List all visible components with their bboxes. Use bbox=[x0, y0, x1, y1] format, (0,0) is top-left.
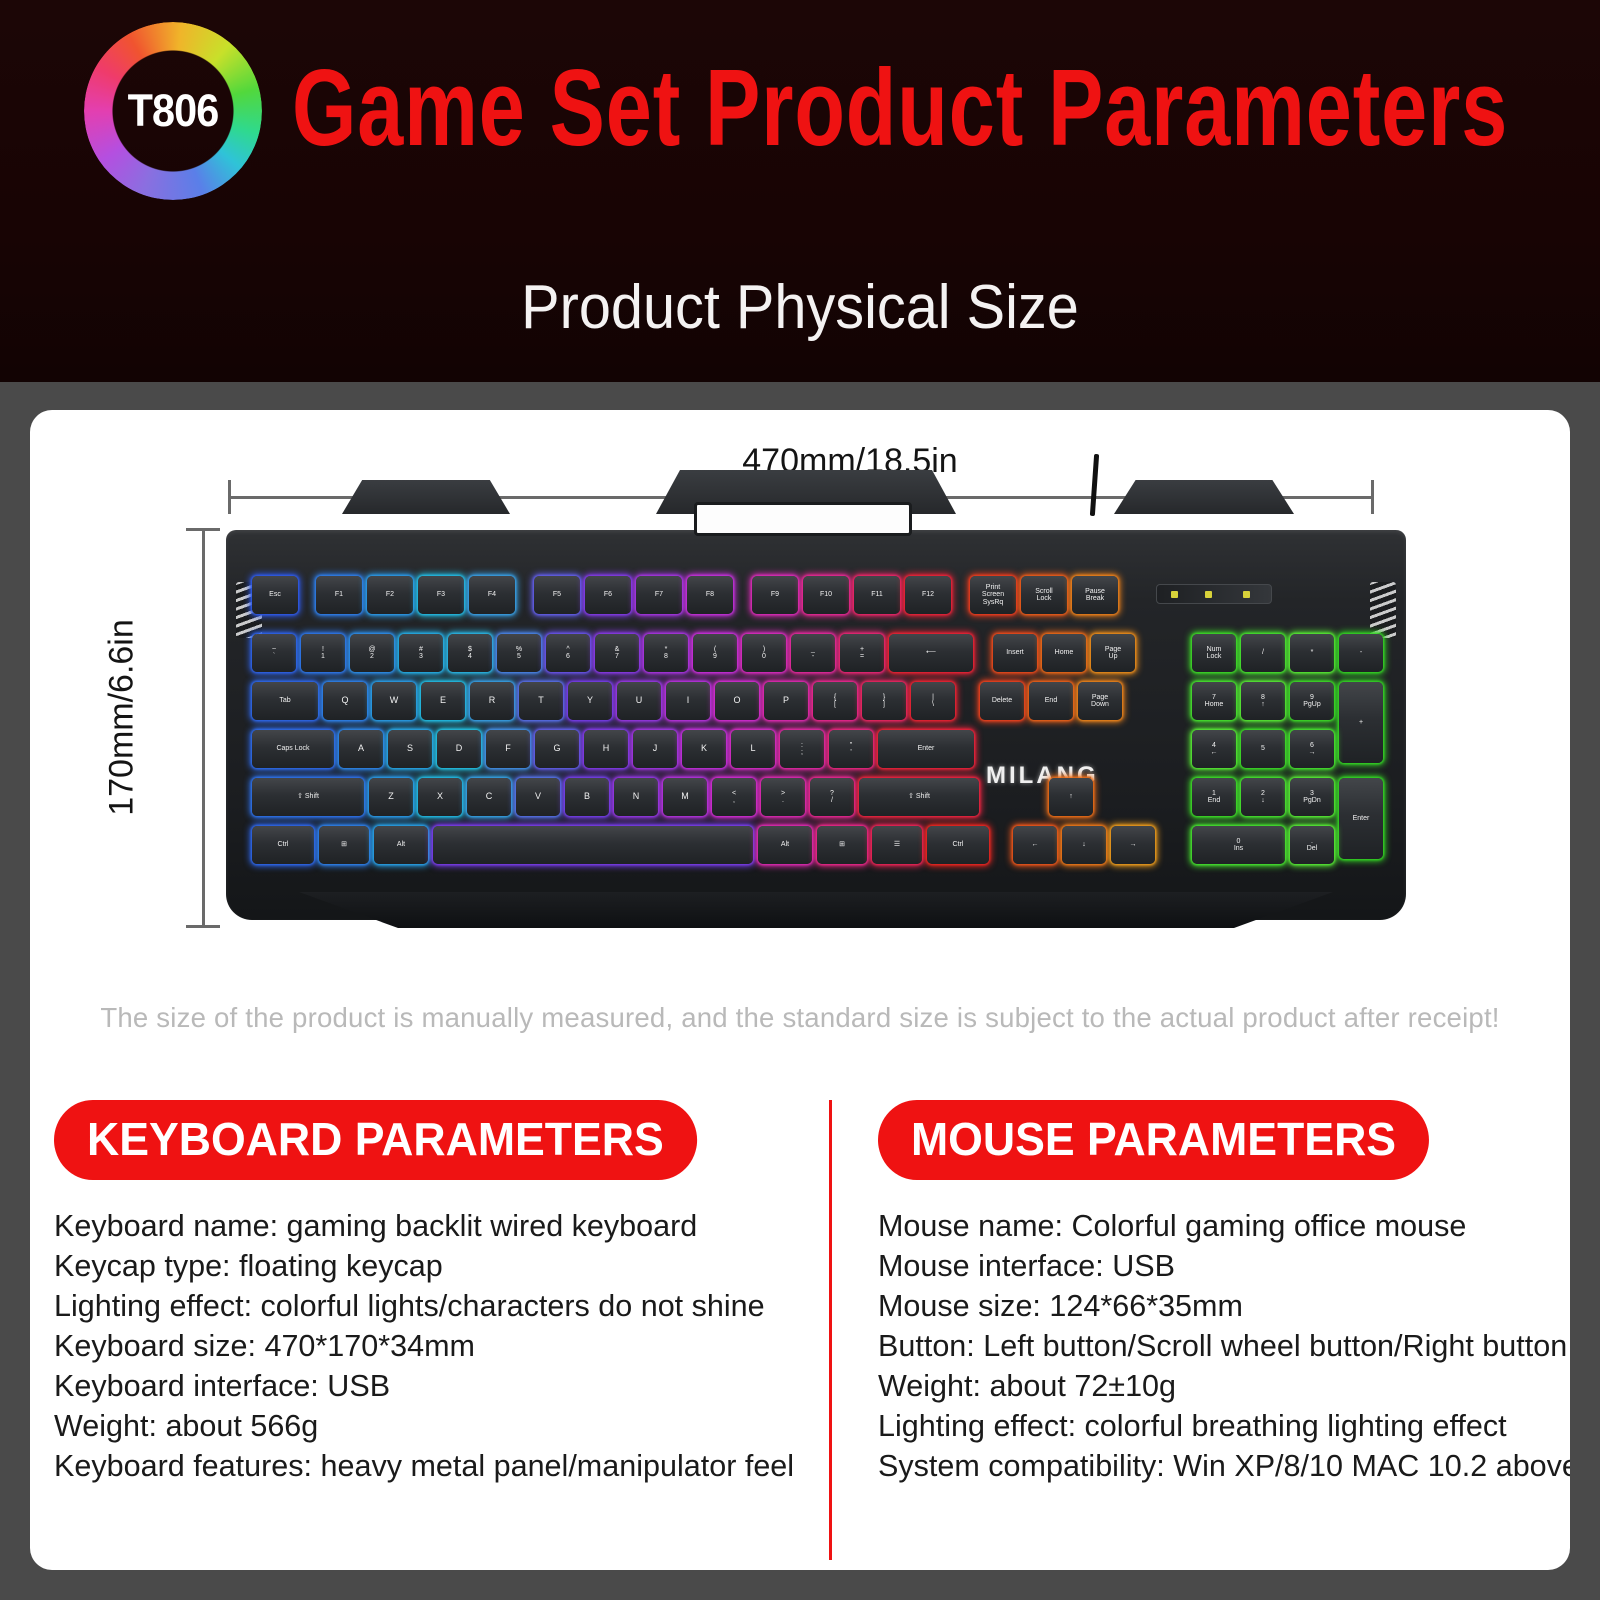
keycap: N bbox=[614, 778, 658, 816]
keycap: P bbox=[764, 682, 808, 720]
keycap: 9 PgUp bbox=[1290, 682, 1334, 720]
keycap: Tab bbox=[252, 682, 318, 720]
keycap: A bbox=[339, 730, 383, 768]
keycap: 0 Ins bbox=[1192, 826, 1285, 864]
keycap: Scroll Lock bbox=[1021, 576, 1067, 614]
keyboard-parameters-heading: KEYBOARD PARAMETERS bbox=[54, 1100, 697, 1180]
keyboard-foot bbox=[266, 892, 1366, 928]
height-dimension-cap-bottom bbox=[186, 925, 220, 928]
keycap: Esc bbox=[252, 576, 298, 614]
keycap: + = bbox=[840, 634, 884, 672]
keycap: F12 bbox=[905, 576, 951, 614]
keycap: F1 bbox=[316, 576, 362, 614]
chassis-bump-right bbox=[1114, 480, 1294, 514]
keycap: Enter bbox=[878, 730, 974, 768]
keycap: W bbox=[372, 682, 416, 720]
keycap: ! 1 bbox=[301, 634, 345, 672]
height-dimension-line bbox=[202, 528, 205, 928]
mouse-spec-line: Lighting effect: colorful breathing ligh… bbox=[878, 1406, 1570, 1446]
keycap: Delete bbox=[980, 682, 1024, 720]
keyboard-spec-line: Keyboard name: gaming backlit wired keyb… bbox=[54, 1206, 794, 1246]
keycap: Alt bbox=[758, 826, 812, 864]
keycap: Alt bbox=[374, 826, 428, 864]
keyboard-parameters-column: KEYBOARD PARAMETERS Keyboard name: gamin… bbox=[30, 1100, 829, 1560]
keycap: ( 9 bbox=[693, 634, 737, 672]
keycap: : ; bbox=[780, 730, 824, 768]
t806-logo: T806 bbox=[84, 22, 262, 200]
keycap bbox=[433, 826, 753, 864]
width-dimension-cap-right bbox=[1371, 480, 1374, 514]
keycap: @ 2 bbox=[350, 634, 394, 672]
keycap: S bbox=[388, 730, 432, 768]
keycap: F8 bbox=[687, 576, 733, 614]
keycap: > . bbox=[761, 778, 805, 816]
keycap: Print Screen SysRq bbox=[970, 576, 1016, 614]
keycap: Page Down bbox=[1078, 682, 1122, 720]
keycap: Page Up bbox=[1091, 634, 1135, 672]
mouse-spec-line: Mouse name: Colorful gaming office mouse bbox=[878, 1206, 1570, 1246]
keycap: ← bbox=[1013, 826, 1057, 864]
keycap: " ' bbox=[829, 730, 873, 768]
parameters-section: KEYBOARD PARAMETERS Keyboard name: gamin… bbox=[30, 1100, 1570, 1560]
keycap: E bbox=[421, 682, 465, 720]
keycap: H bbox=[584, 730, 628, 768]
keycap: F3 bbox=[418, 576, 464, 614]
keycap: 3 PgDn bbox=[1290, 778, 1334, 816]
keycap: Caps Lock bbox=[252, 730, 334, 768]
keyboard-spec-line: Keyboard size: 470*170*34mm bbox=[54, 1326, 794, 1366]
keycap: L bbox=[731, 730, 775, 768]
mouse-spec-line: Mouse interface: USB bbox=[878, 1246, 1570, 1286]
keycap-grid: EscF1F2F3F4F5F6F7F8F9F10F11F12Print Scre… bbox=[252, 576, 1380, 902]
keycap: 4 ← bbox=[1192, 730, 1236, 768]
keycap: T bbox=[519, 682, 563, 720]
keycap: F10 bbox=[803, 576, 849, 614]
keycap: Insert bbox=[993, 634, 1037, 672]
keycap: F4 bbox=[469, 576, 515, 614]
keyboard-spec-line: Keyboard features: heavy metal panel/man… bbox=[54, 1446, 794, 1486]
page-title: Game Set Product Parameters bbox=[292, 54, 1508, 163]
keycap: 5 bbox=[1241, 730, 1285, 768]
mouse-parameters-heading: MOUSE PARAMETERS bbox=[878, 1100, 1429, 1180]
keycap: G bbox=[535, 730, 579, 768]
keycap: _ - bbox=[791, 634, 835, 672]
content-frame: 470mm/18.5in 170mm/6.6in MILANG EscF1F2F… bbox=[0, 382, 1600, 1600]
keycap: Ctrl bbox=[252, 826, 314, 864]
keycap: 6 → bbox=[1290, 730, 1334, 768]
keycap: M bbox=[663, 778, 707, 816]
keycap: B bbox=[565, 778, 609, 816]
keycap: % 5 bbox=[497, 634, 541, 672]
keycap: } ] bbox=[862, 682, 906, 720]
keycap: ⇧ Shift bbox=[859, 778, 979, 816]
keycap: Num Lock bbox=[1192, 634, 1236, 672]
keycap: ? / bbox=[810, 778, 854, 816]
keycap: ^ 6 bbox=[546, 634, 590, 672]
keycap: Y bbox=[568, 682, 612, 720]
keycap: F5 bbox=[534, 576, 580, 614]
mouse-spec-line: Weight: about 72±10g bbox=[878, 1366, 1570, 1406]
keycap: ⊞ bbox=[817, 826, 867, 864]
phone-holder-slot bbox=[694, 502, 912, 536]
keycap: 2 ↓ bbox=[1241, 778, 1285, 816]
height-dimension-label: 170mm/6.6in bbox=[103, 568, 142, 868]
height-dimension-cap-top bbox=[186, 528, 220, 531]
keycap: Q bbox=[323, 682, 367, 720]
keyboard-spec-line: Keyboard interface: USB bbox=[54, 1366, 794, 1406]
keyboard-chassis: MILANG EscF1F2F3F4F5F6F7F8F9F10F11F12Pri… bbox=[226, 530, 1406, 920]
keycap: * 8 bbox=[644, 634, 688, 672]
keycap: I bbox=[666, 682, 710, 720]
keycap: ☰ bbox=[872, 826, 922, 864]
usb-cable bbox=[1090, 454, 1099, 516]
keycap: F7 bbox=[636, 576, 682, 614]
keycap: K bbox=[682, 730, 726, 768]
keycap: ↓ bbox=[1062, 826, 1106, 864]
keycap: 1 End bbox=[1192, 778, 1236, 816]
keycap: V bbox=[516, 778, 560, 816]
keycap: ~ ` bbox=[252, 634, 296, 672]
keycap: { [ bbox=[813, 682, 857, 720]
keycap: $ 4 bbox=[448, 634, 492, 672]
keycap: F6 bbox=[585, 576, 631, 614]
keycap: U bbox=[617, 682, 661, 720]
keycap: ) 0 bbox=[742, 634, 786, 672]
keyboard-spec-line: Weight: about 566g bbox=[54, 1406, 794, 1446]
mouse-spec-line: System compatibility: Win XP/8/10 MAC 10… bbox=[878, 1446, 1570, 1486]
keycap: R bbox=[470, 682, 514, 720]
keycap: 8 ↑ bbox=[1241, 682, 1285, 720]
keycap: < , bbox=[712, 778, 756, 816]
measurement-disclaimer: The size of the product is manually meas… bbox=[42, 1002, 1559, 1034]
keycap: * bbox=[1290, 634, 1334, 672]
keyboard-spec-line: Keycap type: floating keycap bbox=[54, 1246, 794, 1286]
keycap: C bbox=[467, 778, 511, 816]
keycap: Home bbox=[1042, 634, 1086, 672]
chassis-bump-left bbox=[342, 480, 510, 514]
keycap: F11 bbox=[854, 576, 900, 614]
logo-badge-label: T806 bbox=[91, 22, 255, 200]
white-card: 470mm/18.5in 170mm/6.6in MILANG EscF1F2F… bbox=[30, 410, 1570, 1570]
keyboard-spec-list: Keyboard name: gaming backlit wired keyb… bbox=[54, 1206, 805, 1486]
keycap: ↑ bbox=[1049, 778, 1093, 816]
keycap: Pause Break bbox=[1072, 576, 1118, 614]
keycap: F2 bbox=[367, 576, 413, 614]
keycap: . Del bbox=[1290, 826, 1334, 864]
keycap: ⟵ bbox=[889, 634, 973, 672]
keycap: End bbox=[1029, 682, 1073, 720]
mouse-spec-line: Button: Left button/Scroll wheel button/… bbox=[878, 1326, 1570, 1366]
keycap: ⊞ bbox=[319, 826, 369, 864]
keyboard-product-image: MILANG EscF1F2F3F4F5F6F7F8F9F10F11F12Pri… bbox=[226, 510, 1406, 930]
keycap: - bbox=[1339, 634, 1383, 672]
keycap: F9 bbox=[752, 576, 798, 614]
keycap: Enter bbox=[1339, 778, 1383, 859]
mouse-spec-line: Mouse size: 124*66*35mm bbox=[878, 1286, 1570, 1326]
keycap: Ctrl bbox=[927, 826, 989, 864]
keycap: + bbox=[1339, 682, 1383, 763]
keycap: → bbox=[1111, 826, 1155, 864]
keycap: Z bbox=[369, 778, 413, 816]
keycap: / bbox=[1241, 634, 1285, 672]
keycap: D bbox=[437, 730, 481, 768]
keycap: 7 Home bbox=[1192, 682, 1236, 720]
keycap: O bbox=[715, 682, 759, 720]
keycap: | \ bbox=[911, 682, 955, 720]
keyboard-spec-line: Lighting effect: colorful lights/charact… bbox=[54, 1286, 794, 1326]
width-dimension-cap-left bbox=[228, 480, 231, 514]
mouse-parameters-column: MOUSE PARAMETERS Mouse name: Colorful ga… bbox=[829, 1100, 1570, 1560]
page-header: T806 Game Set Product Parameters Product… bbox=[0, 0, 1600, 382]
keycap: & 7 bbox=[595, 634, 639, 672]
page-subtitle: Product Physical Size bbox=[56, 272, 1544, 343]
keycap: # 3 bbox=[399, 634, 443, 672]
keycap: X bbox=[418, 778, 462, 816]
mouse-spec-list: Mouse name: Colorful gaming office mouse… bbox=[878, 1206, 1570, 1486]
keycap: J bbox=[633, 730, 677, 768]
keycap: F bbox=[486, 730, 530, 768]
keycap: ⇧ Shift bbox=[252, 778, 364, 816]
